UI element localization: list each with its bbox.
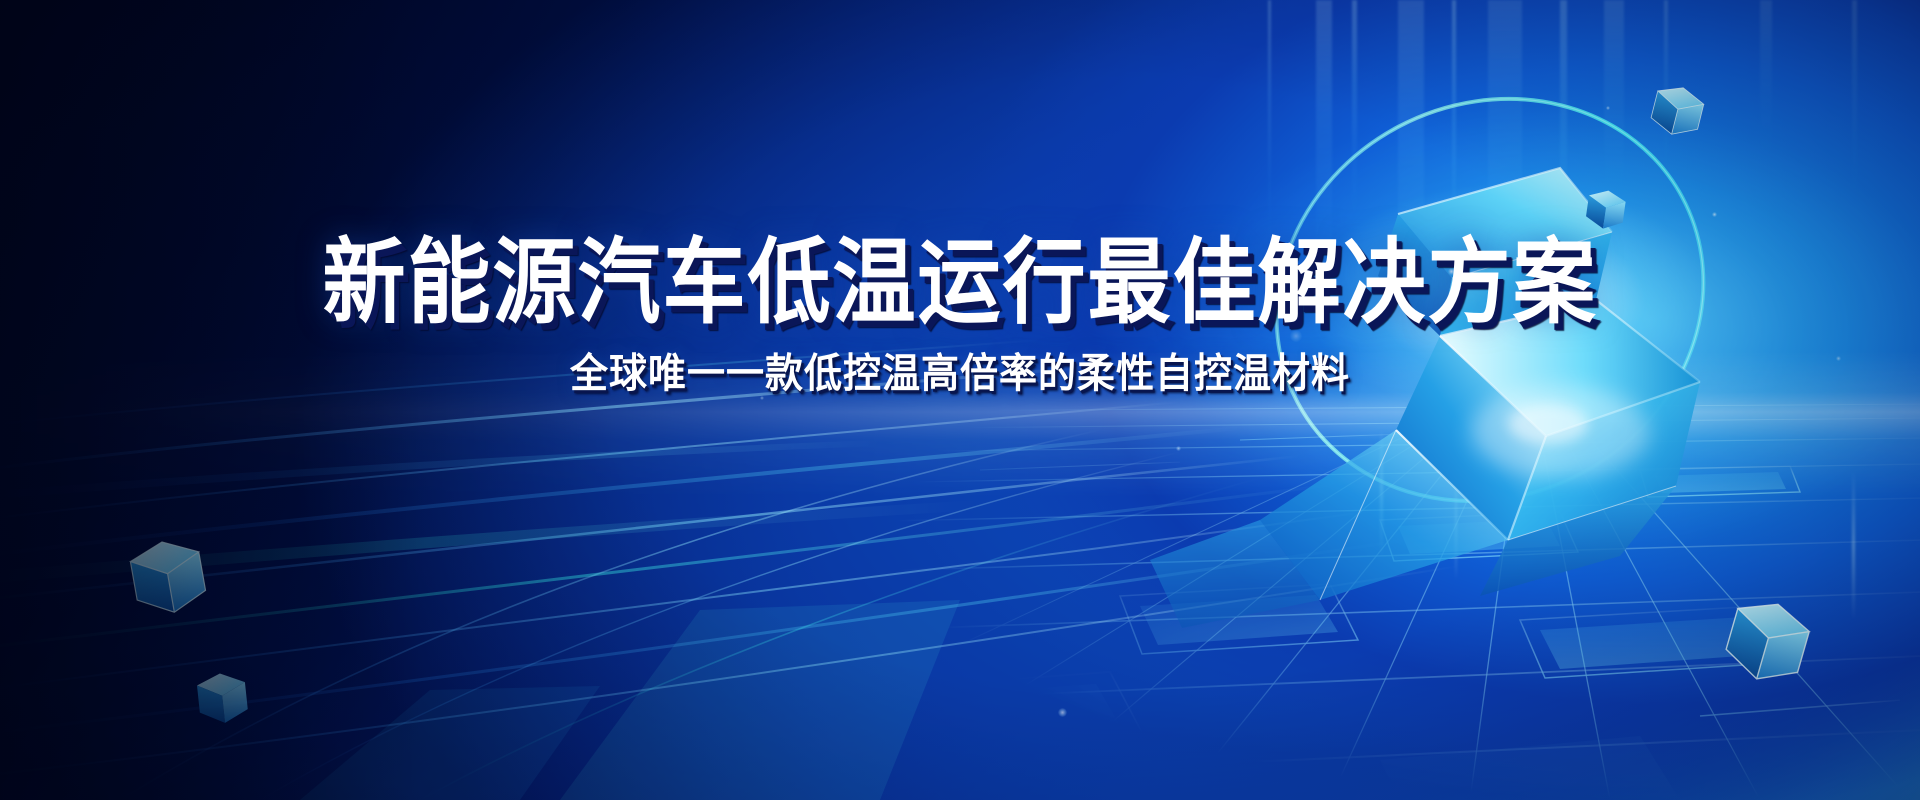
diagonal-light-streaks: [0, 0, 1920, 800]
hero-text-block: 新能源汽车低温运行最佳解决方案 全球唯一一款低控温高倍率的柔性自控温材料: [0, 236, 1920, 391]
page-subtitle: 全球唯一一款低控温高倍率的柔性自控温材料: [0, 353, 1920, 393]
perspective-circuit-grid: [0, 0, 1920, 800]
core-glow: [0, 0, 1920, 800]
crystal-cube-graphic: [0, 0, 1920, 800]
floating-cube-bottom-right: [1721, 594, 1814, 689]
page-title: 新能源汽车低温运行最佳解决方案: [0, 236, 1920, 329]
vertical-light-beams: [0, 0, 1920, 800]
hero-banner: 新能源汽车低温运行最佳解决方案 全球唯一一款低控温高倍率的柔性自控温材料: [0, 0, 1920, 800]
orbit-ring-graphic: [0, 0, 1920, 800]
background-gradient: [0, 0, 1920, 800]
floating-cube-top-right: [1648, 82, 1706, 140]
horizon-light-band: [0, 0, 1920, 800]
floating-cube-mid-left: [128, 536, 208, 618]
floating-cube-bottom-left: [196, 671, 249, 725]
edge-vignette: [0, 0, 1920, 800]
sparkle-particles: [0, 0, 1920, 800]
floating-cube-crystal-side: [1585, 188, 1627, 231]
floating-cubes: [0, 0, 1920, 800]
